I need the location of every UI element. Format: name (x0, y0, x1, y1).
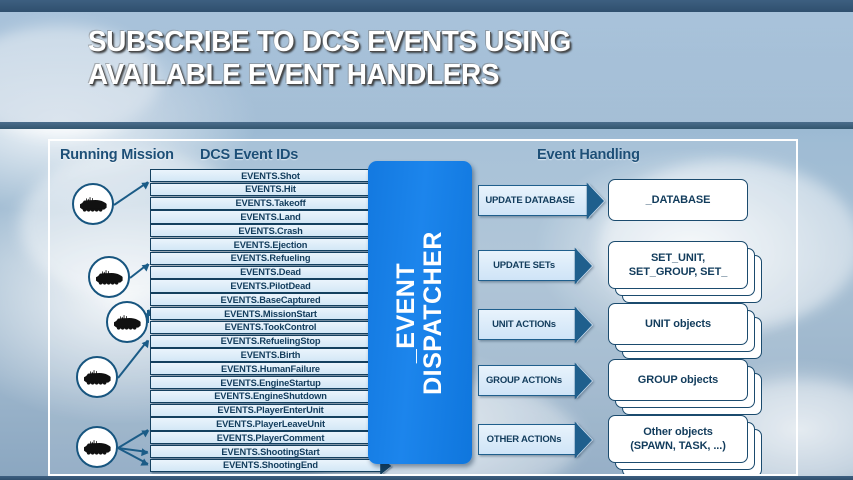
top-strip (0, 0, 853, 12)
event-dispatcher-block[interactable]: _EVENT DISPATCHER (368, 161, 472, 464)
event-id-label: EVENTS.EngineStartup (220, 378, 320, 388)
event-id-tag[interactable]: EVENTS.Refueling (150, 252, 382, 265)
event-id-tag[interactable]: EVENTS.Crash (150, 224, 382, 237)
event-id-label: EVENTS.Takeoff (235, 198, 305, 208)
column-header-event-handling: Event Handling (537, 147, 640, 163)
handler-action-label: UNIT ACTIONs (492, 319, 556, 330)
event-id-label: EVENTS.Land (240, 212, 300, 222)
event-id-label: EVENTS.EngineShutdown (214, 391, 327, 401)
column-header-dcs-event-ids: DCS Event IDs (200, 147, 298, 163)
event-id-tag[interactable]: EVENTS.TookControl (150, 321, 382, 334)
event-id-label: EVENTS.Refueling (231, 253, 311, 263)
vehicle-icon-3[interactable] (106, 301, 148, 343)
event-id-tag[interactable]: EVENTS.BaseCaptured (150, 293, 382, 306)
handler-action-tag[interactable]: GROUP ACTIONs (478, 365, 578, 396)
event-handler-row: UPDATE DATABASE_DATABASE (478, 179, 778, 221)
event-id-tag[interactable]: EVENTS.Land (150, 210, 382, 223)
vehicle-icon-1[interactable] (72, 183, 114, 225)
event-id-tag[interactable]: EVENTS.PlayerEnterUnit (150, 404, 382, 417)
event-id-label: EVENTS.HumanFailure (221, 364, 320, 374)
bottom-strip (0, 476, 853, 480)
event-id-tag[interactable]: EVENTS.ShootingEnd (150, 459, 382, 472)
event-id-label: EVENTS.Crash (238, 226, 302, 236)
event-id-tag[interactable]: EVENTS.PlayerLeaveUnit (150, 417, 382, 430)
diagram-panel: Running Mission DCS Event IDs Event Hand… (48, 139, 798, 476)
handler-action-tag[interactable]: OTHER ACTIONs (478, 424, 578, 455)
event-id-tag[interactable]: EVENTS.PlayerComment (150, 431, 382, 444)
slide-canvas: SUBSCRIBE TO DCS EVENTS USING AVAILABLE … (0, 0, 853, 480)
arrow-tip-icon (589, 184, 605, 218)
unit-connector-arrow (113, 181, 148, 206)
event-dispatcher-label: _EVENT DISPATCHER (393, 168, 447, 458)
page-title: SUBSCRIBE TO DCS EVENTS USING AVAILABLE … (88, 26, 760, 92)
arrow-tip-icon (577, 364, 593, 398)
unit-connector-arrow (118, 447, 149, 465)
arrow-tip-icon (577, 249, 593, 283)
handler-action-label: UPDATE DATABASE (485, 195, 574, 206)
event-id-tag[interactable]: EVENTS.Birth (150, 348, 382, 361)
event-id-label: EVENTS.MissionStart (224, 309, 317, 319)
handler-target-card[interactable]: UNIT objects (608, 303, 748, 345)
vehicle-icon-4[interactable] (76, 356, 118, 398)
event-handler-row: UNIT ACTIONsUNIT objects (478, 303, 778, 345)
unit-connector-arrow (118, 447, 148, 453)
event-id-tag[interactable]: EVENTS.Dead (150, 266, 382, 279)
arrow-tip-icon (577, 308, 593, 342)
handler-target-card[interactable]: GROUP objects (608, 359, 748, 401)
event-id-label: EVENTS.Hit (245, 184, 296, 194)
event-id-label: EVENTS.ShootingStart (221, 447, 319, 457)
handler-target-label: UNIT objects (645, 317, 711, 331)
event-id-tag[interactable]: EVENTS.HumanFailure (150, 362, 382, 375)
handler-target-card[interactable]: _DATABASE (608, 179, 748, 221)
handler-target-label: SET_UNIT, SET_GROUP, SET_ (629, 251, 728, 279)
event-id-label: EVENTS.RefuelingStop (221, 336, 321, 346)
handler-action-label: OTHER ACTIONs (487, 434, 562, 445)
handler-target-label: _DATABASE (646, 193, 711, 207)
event-id-label: EVENTS.Ejection (234, 240, 308, 250)
event-id-tag[interactable]: EVENTS.EngineStartup (150, 376, 382, 389)
event-id-tag[interactable]: EVENTS.Hit (150, 183, 382, 196)
event-id-tag[interactable]: EVENTS.MissionStart (150, 307, 382, 320)
event-handler-row: OTHER ACTIONsOther objects (SPAWN, TASK,… (478, 415, 778, 463)
unit-connector-arrow (129, 263, 148, 279)
event-id-label: EVENTS.Dead (240, 267, 301, 277)
handler-action-tag[interactable]: UNIT ACTIONs (478, 309, 578, 340)
handler-target-card[interactable]: SET_UNIT, SET_GROUP, SET_ (608, 241, 748, 289)
vehicle-icon-2[interactable] (88, 256, 130, 298)
event-id-tag[interactable]: EVENTS.Shot (150, 169, 382, 182)
event-id-label: EVENTS.PlayerLeaveUnit (216, 419, 325, 429)
event-handler-row: GROUP ACTIONsGROUP objects (478, 359, 778, 401)
event-id-label: EVENTS.PilotDead (230, 281, 310, 291)
event-id-tag[interactable]: EVENTS.RefuelingStop (150, 335, 382, 348)
event-id-label: EVENTS.Birth (241, 350, 301, 360)
event-id-tag[interactable]: EVENTS.PilotDead (150, 279, 382, 292)
event-id-label: EVENTS.PlayerEnterUnit (217, 405, 323, 415)
event-handler-row: UPDATE SETsSET_UNIT, SET_GROUP, SET_ (478, 241, 778, 289)
unit-connector-arrow (117, 339, 149, 378)
event-id-label: EVENTS.Shot (241, 171, 300, 181)
event-id-tag[interactable]: EVENTS.Takeoff (150, 197, 382, 210)
handler-target-card[interactable]: Other objects (SPAWN, TASK, ...) (608, 415, 748, 463)
dcs-event-id-list: EVENTS.ShotEVENTS.HitEVENTS.TakeoffEVENT… (150, 169, 382, 473)
handler-action-tag[interactable]: UPDATE DATABASE (478, 185, 590, 216)
event-id-tag[interactable]: EVENTS.ShootingStart (150, 445, 382, 458)
event-id-label: EVENTS.TookControl (225, 322, 317, 332)
unit-connector-arrow (117, 429, 148, 449)
arrow-tip-icon (577, 423, 593, 457)
handler-target-label: Other objects (SPAWN, TASK, ...) (630, 425, 726, 453)
handler-target-label: GROUP objects (638, 373, 718, 387)
event-id-tag[interactable]: EVENTS.EngineShutdown (150, 390, 382, 403)
handler-action-label: UPDATE SETs (493, 260, 555, 271)
event-id-label: EVENTS.BaseCaptured (221, 295, 321, 305)
column-header-running-mission: Running Mission (60, 147, 174, 163)
title-divider-strip (0, 122, 853, 129)
handler-action-tag[interactable]: UPDATE SETs (478, 250, 578, 281)
event-id-label: EVENTS.PlayerComment (217, 433, 325, 443)
event-id-tag[interactable]: EVENTS.Ejection (150, 238, 382, 251)
event-id-label: EVENTS.ShootingEnd (223, 460, 318, 470)
handler-action-label: GROUP ACTIONs (486, 375, 562, 386)
vehicle-icon-5[interactable] (76, 426, 118, 468)
